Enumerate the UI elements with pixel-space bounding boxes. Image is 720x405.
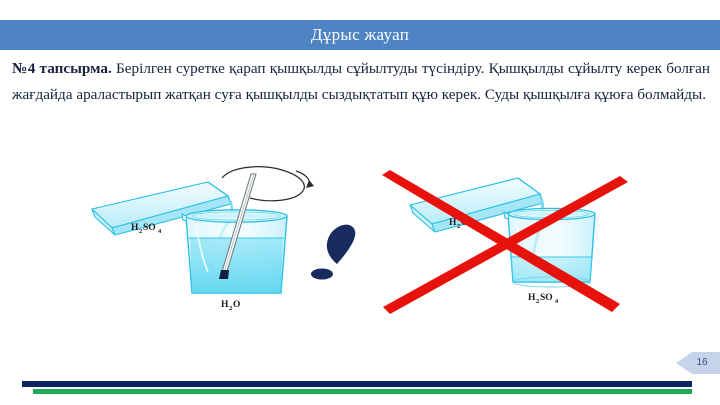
left-acid-label-sub1: 2 [139,228,142,235]
right-acid-label-sub2: 4 [555,298,559,305]
task-body-text: Берілген суретке қарап қышқылды сұйылтуд… [12,60,710,103]
left-water-label-main: O [233,300,240,310]
stirring-arrow-icon [222,167,314,201]
right-acid-label-sub1: 2 [536,298,539,305]
task-paragraph: №4 тапсырма. Берілген суретке қарап қышқ… [12,56,710,107]
footer-bar-green [33,389,692,394]
warning-exclamation-icon [311,225,355,280]
right-water-label: H [449,218,457,228]
task-number-label: №4 тапсырма. [12,60,112,77]
left-acid-label-main: SO [143,223,156,233]
left-acid-label: H [131,223,139,233]
right-acid-label-main: SO [540,293,553,303]
incorrect-panel: H 2 O H 2 SO 4 [382,170,628,314]
left-water-label-sub: 2 [229,305,232,312]
page-title: Дұрыс жауап [0,20,720,50]
right-acid-label: H [528,293,536,303]
water-beaker-left [182,210,287,293]
right-water-label-sub: 2 [457,223,460,230]
page-number: 16 [676,352,720,374]
left-acid-label-sub2: 4 [158,228,162,235]
illustration-figure: H 2 SO 4 [0,152,720,337]
title-banner: Дұрыс жауап [0,20,720,50]
footer-bar-navy [22,381,692,387]
correct-panel: H 2 SO 4 [92,167,355,312]
left-water-label: H [221,300,229,310]
slide-canvas: Дұрыс жауап №4 тапсырма. Берілген суретк… [0,0,720,405]
